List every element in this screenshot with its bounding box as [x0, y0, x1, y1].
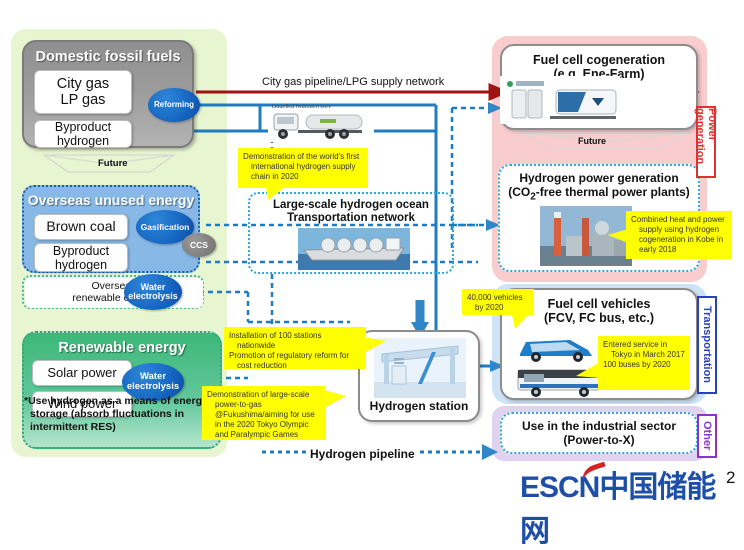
callout-text-2: 100 buses by 2020: [603, 360, 685, 370]
item-brown-coal[interactable]: Brown coal: [34, 214, 128, 240]
callout-text-2: Promotion of regulatory reform for cost …: [229, 351, 361, 371]
process-ccs[interactable]: CCS: [182, 233, 216, 257]
hydrogen-carrier-ship-image: [298, 228, 410, 270]
process-water-electrolysis-overseas[interactable]: Waterelectrolysis: [124, 274, 182, 310]
item-label: Byproducthydrogen: [55, 120, 111, 148]
item-label: Solar power: [47, 366, 116, 381]
slide-canvas: Domestic fossil fuels City gasLP gas Byp…: [0, 0, 744, 500]
overseas-title: Overseas unused energy: [24, 187, 198, 208]
domestic-title: Domestic fossil fuels: [24, 42, 192, 65]
watermark: ESCN中国储能网: [520, 462, 744, 550]
item-city-gas-lp-gas[interactable]: City gasLP gas: [34, 70, 132, 114]
callout-text: Combined heat and power supply using hyd…: [631, 215, 727, 255]
card-industrial-sector[interactable]: Use in the industrial sector(Power-to-X): [500, 412, 698, 454]
hydrogen-station-image: [374, 338, 466, 398]
hydrogen-station-title: Hydrogen station: [360, 400, 478, 414]
side-label-transportation: Transportation: [697, 296, 717, 394]
item-label: City gasLP gas: [57, 76, 109, 108]
process-reforming-domestic[interactable]: Reforming: [148, 88, 200, 122]
callout-tokyo-bus[interactable]: Entered service in Tokyo in March 2017 1…: [598, 336, 690, 390]
hydrogen-pipeline-label: Hydrogen pipeline: [310, 447, 415, 461]
side-label-other: Other: [697, 414, 717, 458]
callout-text: Demonstration of the world's first inter…: [243, 152, 363, 182]
callout-fukushima[interactable]: Demonstration of large-scale power-to-ga…: [202, 386, 326, 440]
callout-text: 40,000 vehicles by 2020: [467, 293, 529, 313]
callout-supply-chain[interactable]: Demonstration of the world's first inter…: [238, 148, 368, 188]
process-label: Waterelectrolysis: [127, 372, 179, 392]
callout-text-1: Installation of 100 stations nationwide: [229, 331, 361, 351]
ene-farm-unit-image: [500, 76, 620, 124]
item-label: Byproducthydrogen: [53, 244, 109, 272]
renewable-title: Renewable energy: [24, 333, 220, 356]
h2power-title: Hydrogen power generation(CO2-free therm…: [500, 166, 698, 203]
process-label: Gasification: [141, 223, 190, 232]
future-label-left: Future: [98, 158, 128, 169]
res-storage-note: *Use hydrogen as a means of energy stora…: [24, 395, 224, 433]
callout-text: Demonstration of large-scale power-to-ga…: [207, 390, 321, 440]
ccs-label: CCS: [190, 240, 208, 250]
future-label-right: Future: [578, 136, 606, 146]
side-label-power-generation: Power generation: [696, 106, 716, 178]
item-byproduct-hydrogen-overseas[interactable]: Byproducthydrogen: [34, 243, 128, 272]
fcv-blue-car-image: [516, 330, 596, 364]
item-byproduct-hydrogen-domestic[interactable]: Byproducthydrogen: [34, 120, 132, 148]
callout-40000-vehicles[interactable]: 40,000 vehicles by 2020: [462, 289, 534, 315]
callout-hydrogen-stations[interactable]: Installation of 100 stations nationwide …: [224, 327, 366, 369]
city-gas-pipeline-label: City gas pipeline/LPG supply network: [262, 76, 444, 88]
callout-text-1: Entered service in Tokyo in March 2017: [603, 340, 685, 360]
callout-kobe[interactable]: Combined heat and power supply using hyd…: [626, 211, 732, 259]
industrial-title: Use in the industrial sector(Power-to-X): [502, 414, 696, 448]
item-label: Brown coal: [46, 219, 115, 235]
process-label: Waterelectrolysis: [128, 283, 178, 302]
liquefied-hydrogen-lorry-image: [268, 108, 374, 142]
item-solar-power[interactable]: Solar power: [32, 360, 132, 386]
process-label: Reforming: [154, 101, 194, 109]
